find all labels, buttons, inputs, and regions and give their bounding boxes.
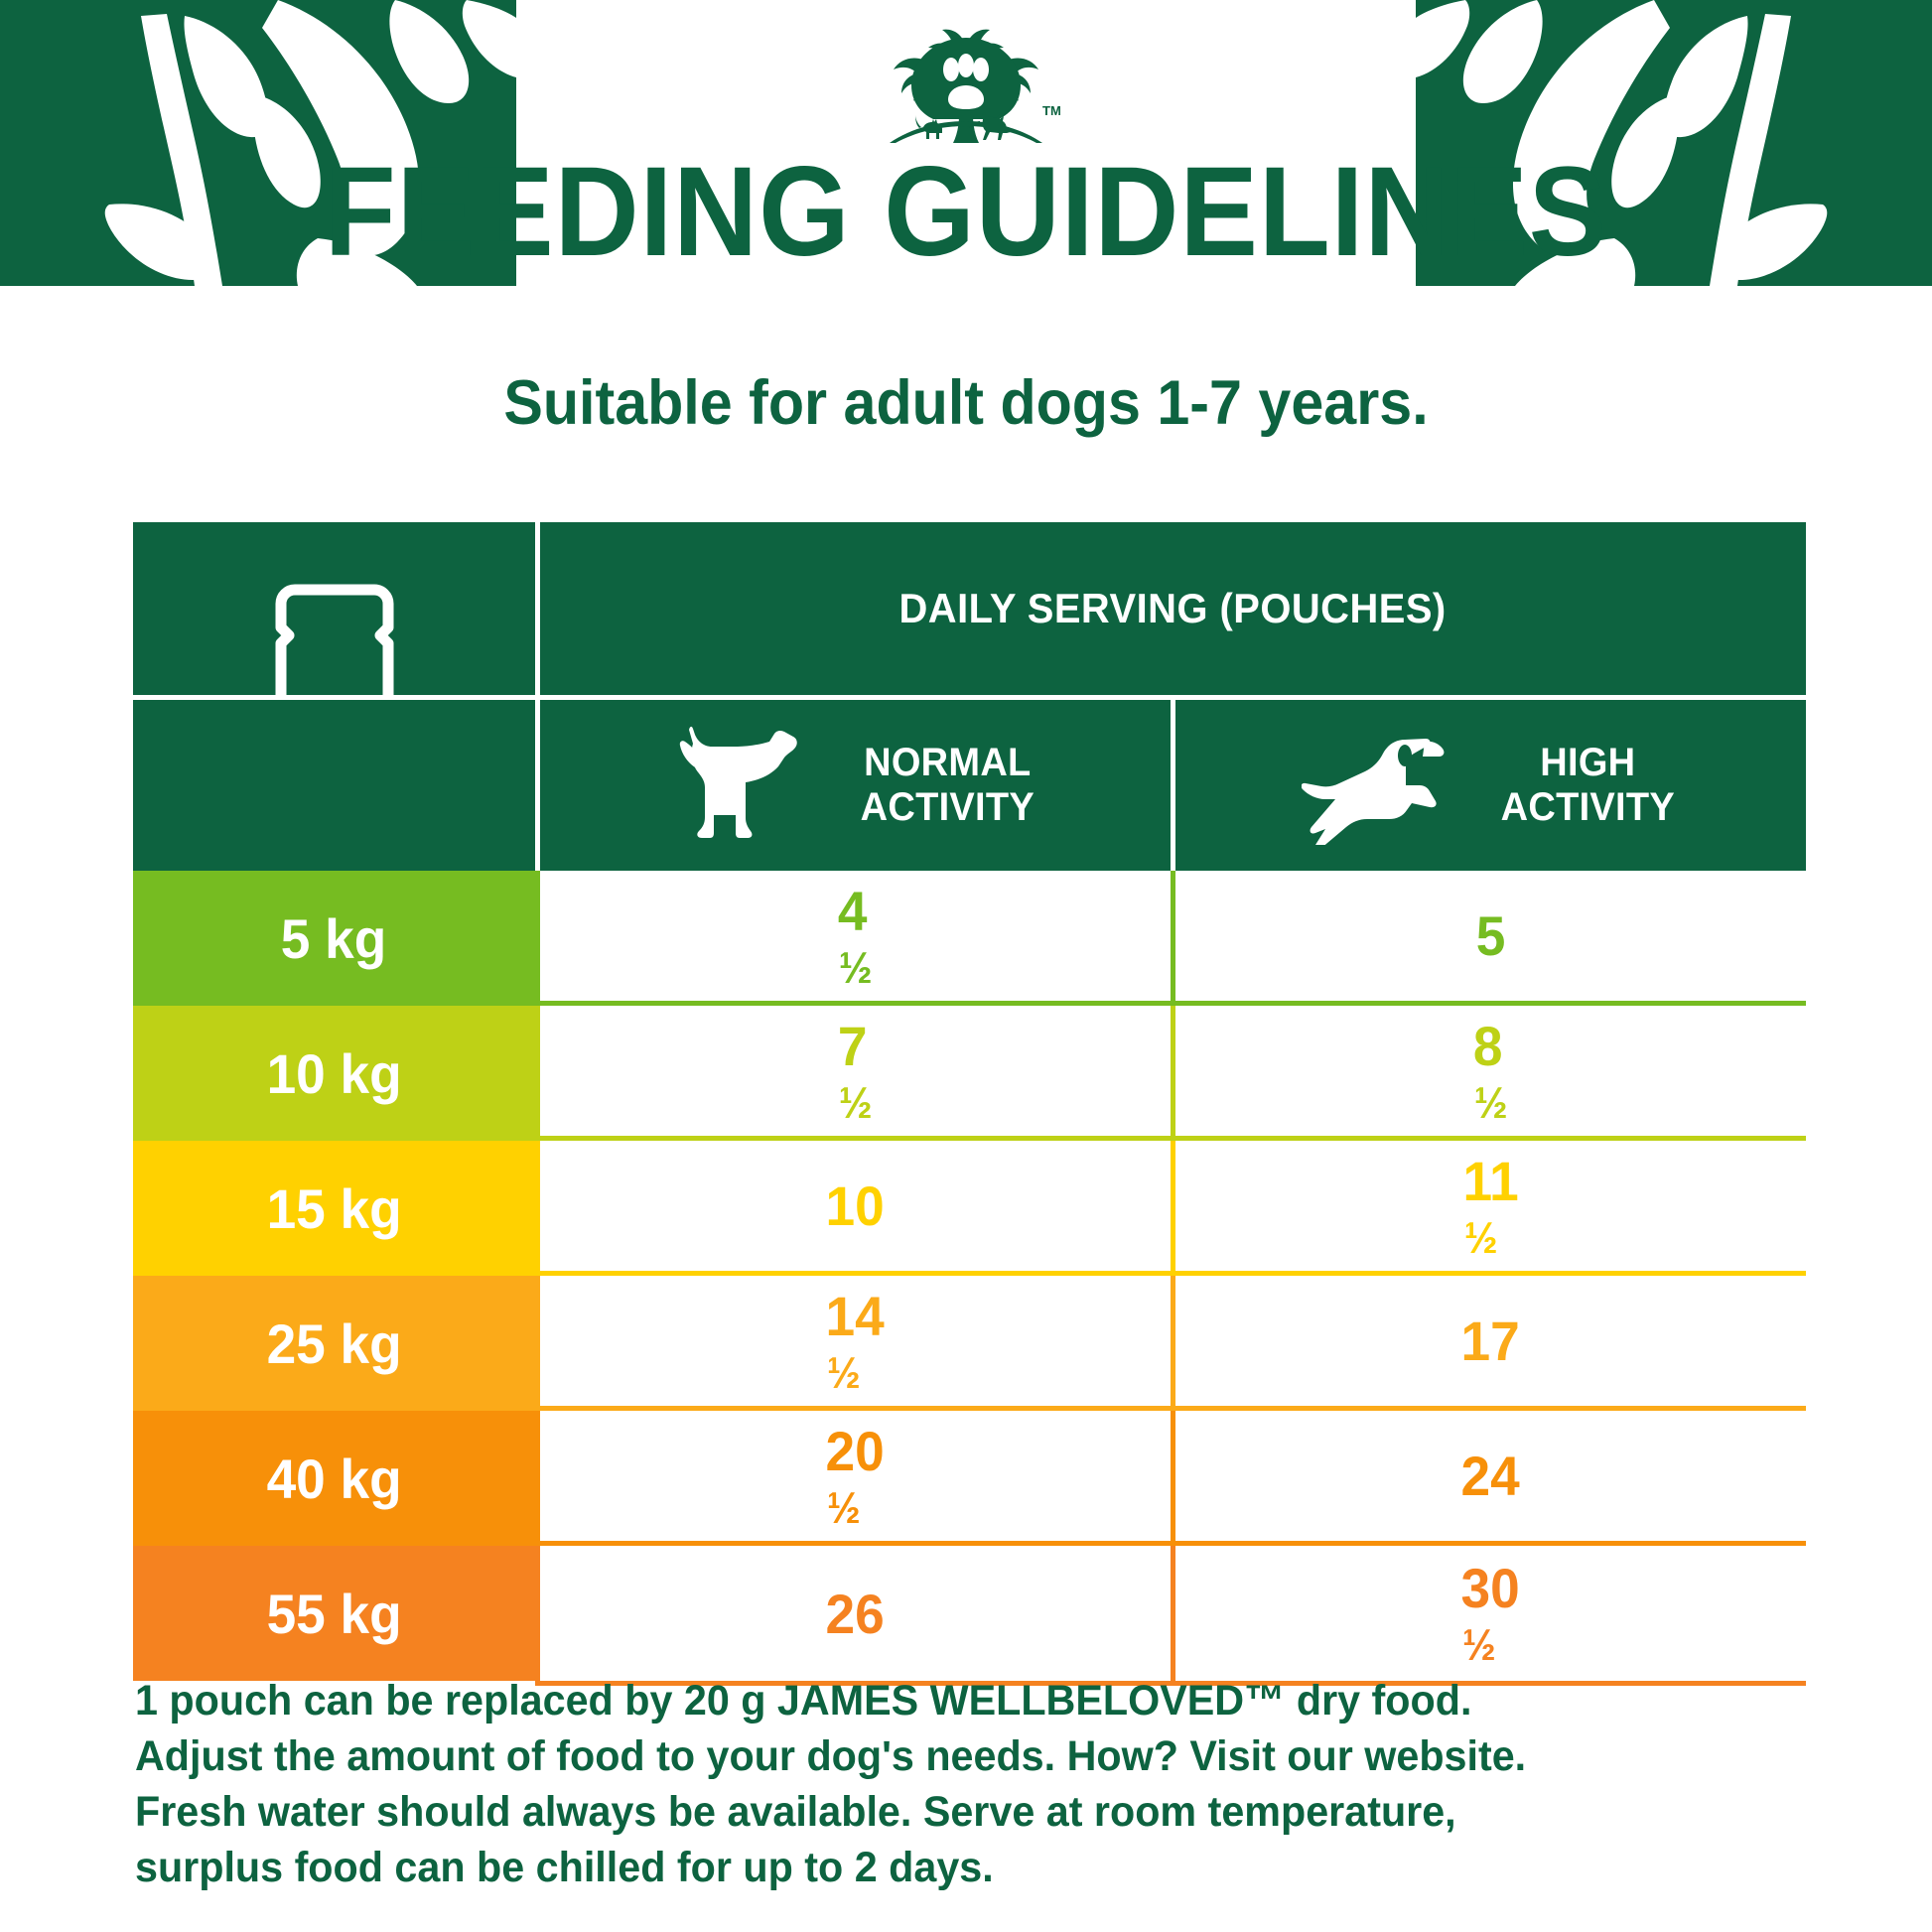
high-activity-value: 8½: [1473, 1014, 1509, 1129]
footer-line: Fresh water should always be available. …: [135, 1785, 1660, 1841]
weight-label: 40 kg: [266, 1447, 401, 1511]
normal-activity-value-cell: 20½: [535, 1411, 1171, 1546]
weight-label: 55 kg: [266, 1582, 401, 1646]
normal-activity-value-fraction: ½: [839, 1078, 873, 1129]
table-header-activity: NORMAL ACTIVITY HIGH ACTIVITY: [133, 700, 1806, 871]
normal-activity-value: 4½: [838, 879, 874, 994]
normal-activity-line2: ACTIVITY: [861, 785, 1035, 830]
feeding-guidelines-infographic: TM FEEDING GUIDELINES Suitable for adult…: [0, 0, 1932, 1932]
high-activity-value-fraction: ½: [1474, 1078, 1508, 1129]
weight-cell: 10 kg: [133, 1006, 535, 1141]
high-activity-value: 24: [1461, 1444, 1520, 1508]
footer-notes: 1 pouch can be replaced by 20 g JAMES WE…: [135, 1674, 1724, 1896]
footer-line: 1 pouch can be replaced by 20 g JAMES WE…: [135, 1674, 1660, 1729]
high-activity-value-cell: 30½: [1171, 1546, 1806, 1681]
weight-cell: 15 kg: [133, 1141, 535, 1276]
weight-label: 5 kg: [281, 906, 386, 971]
normal-activity-value-fraction: ½: [827, 1348, 883, 1399]
weight-cell: 40 kg: [133, 1411, 535, 1546]
normal-activity-value: 14½: [826, 1284, 885, 1399]
normal-activity-value-cell: 4½: [535, 871, 1171, 1006]
table-row: 5 kg4½5: [133, 871, 1806, 1006]
normal-activity-value-cell: 26: [535, 1546, 1171, 1681]
high-activity-header: HIGH ACTIVITY: [1175, 700, 1806, 871]
high-activity-value-cell: 5: [1171, 871, 1806, 1006]
high-activity-value-fraction: ½: [1464, 1213, 1517, 1264]
weight-label: 15 kg: [266, 1176, 401, 1241]
page-title: FEEDING GUIDELINES: [77, 149, 1855, 276]
table-header-top: DAILY SERVING (POUCHES): [133, 522, 1806, 695]
weight-cell: 5 kg: [133, 871, 535, 1006]
high-activity-line1: HIGH: [1501, 741, 1675, 785]
weight-cell: 55 kg: [133, 1546, 535, 1681]
high-activity-value-cell: 24: [1171, 1411, 1806, 1546]
table-row: 10 kg7½8½: [133, 1006, 1806, 1141]
trademark-symbol: TM: [1042, 103, 1060, 118]
normal-activity-header: NORMAL ACTIVITY: [540, 700, 1171, 871]
daily-serving-label: DAILY SERVING (POUCHES): [899, 585, 1447, 632]
table-row: 40 kg20½24: [133, 1411, 1806, 1546]
high-activity-value-cell: 17: [1171, 1276, 1806, 1411]
high-activity-value: 17: [1461, 1309, 1520, 1373]
pouch-header-cell: [133, 522, 535, 695]
feeding-table: DAILY SERVING (POUCHES) NORMAL ACTIVITY: [133, 522, 1806, 1686]
high-activity-value: 30½: [1461, 1556, 1520, 1671]
table-row: 55 kg2630½: [133, 1546, 1806, 1681]
table-row: 15 kg1011½: [133, 1141, 1806, 1276]
header-spacer-cell: [133, 700, 535, 871]
normal-activity-value: 7½: [838, 1014, 874, 1129]
normal-activity-label: NORMAL ACTIVITY: [856, 741, 1039, 830]
high-activity-value: 5: [1476, 903, 1506, 968]
high-activity-label: HIGH ACTIVITY: [1496, 741, 1680, 830]
high-activity-value-cell: 11½: [1171, 1141, 1806, 1276]
high-activity-value: 11½: [1462, 1149, 1518, 1264]
table-body: 5 kg4½510 kg7½8½15 kg1011½25 kg14½1740 k…: [133, 871, 1806, 1681]
weight-cell: 25 kg: [133, 1276, 535, 1411]
normal-activity-value-fraction: ½: [827, 1483, 883, 1534]
footer-line: surplus food can be chilled for up to 2 …: [135, 1841, 1660, 1896]
daily-serving-header: DAILY SERVING (POUCHES): [540, 522, 1806, 695]
high-activity-value-fraction: ½: [1462, 1620, 1518, 1671]
normal-activity-value-cell: 14½: [535, 1276, 1171, 1411]
normal-activity-value: 20½: [826, 1419, 885, 1534]
normal-activity-line1: NORMAL: [861, 741, 1035, 785]
normal-activity-value-fraction: ½: [839, 943, 873, 994]
jumping-dog-icon: [1302, 726, 1470, 845]
weight-label: 10 kg: [266, 1041, 401, 1106]
high-activity-value-cell: 8½: [1171, 1006, 1806, 1141]
table-row: 25 kg14½17: [133, 1276, 1806, 1411]
normal-activity-value-cell: 7½: [535, 1006, 1171, 1141]
normal-activity-value-cell: 10: [535, 1141, 1171, 1276]
standing-dog-icon: [671, 726, 830, 845]
weight-label: 25 kg: [266, 1311, 401, 1376]
footer-line: Adjust the amount of food to your dog's …: [135, 1729, 1660, 1785]
normal-activity-value: 10: [826, 1173, 885, 1238]
high-activity-line2: ACTIVITY: [1501, 785, 1675, 830]
normal-activity-value: 26: [826, 1582, 885, 1646]
page-subtitle: Suitable for adult dogs 1-7 years.: [58, 367, 1873, 439]
tree-paw-cat-dog-logo-icon: TM: [872, 24, 1060, 143]
